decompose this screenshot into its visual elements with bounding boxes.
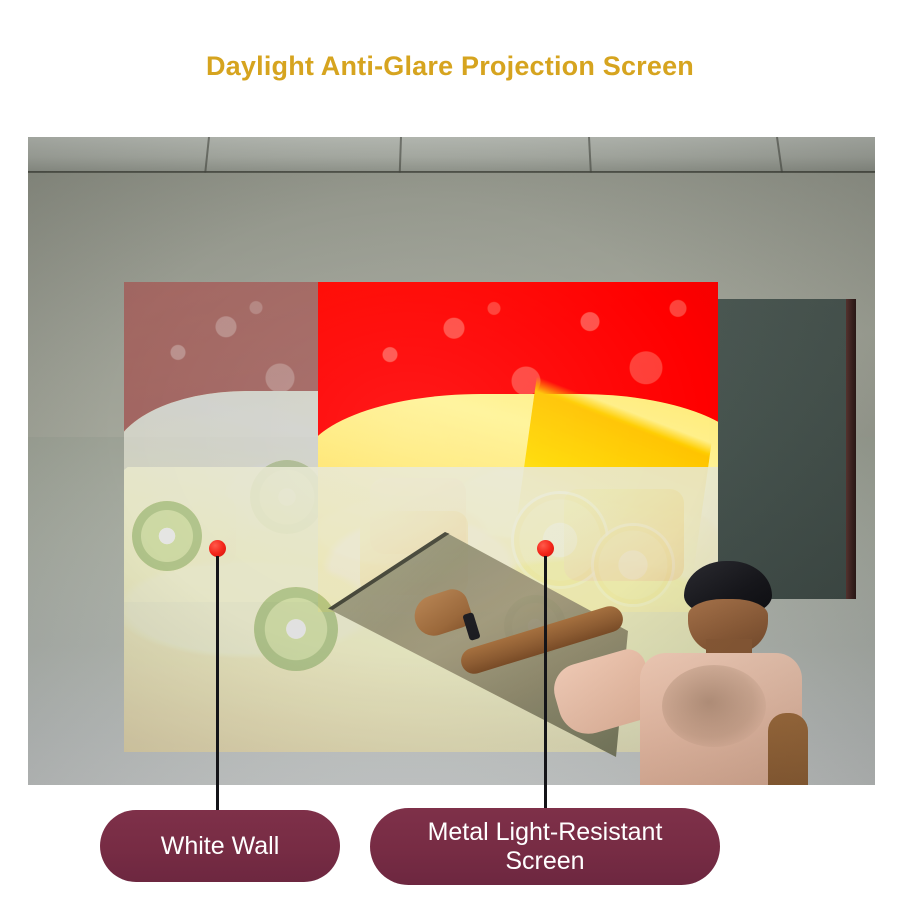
ceiling-seam bbox=[399, 137, 402, 173]
callout-label-metal-screen[interactable]: Metal Light-Resistant Screen bbox=[370, 808, 720, 885]
ceiling-seam bbox=[776, 137, 783, 173]
callout-dot-metal-screen bbox=[537, 540, 554, 557]
ceiling bbox=[28, 137, 875, 173]
ceiling-seam bbox=[588, 137, 592, 173]
projection-kiwi-slice bbox=[254, 587, 338, 671]
callout-leader-line-metal-screen bbox=[544, 556, 547, 808]
projection-kiwi-slice bbox=[132, 501, 202, 571]
callout-label-metal-screen-line2: Screen bbox=[505, 847, 584, 875]
callout-label-white-wall[interactable]: White Wall bbox=[100, 810, 340, 882]
callout-label-metal-screen-text: Metal Light-Resistant Screen bbox=[428, 818, 663, 876]
callout-leader-line-white-wall bbox=[216, 556, 219, 818]
person-lifting-screen bbox=[610, 561, 845, 785]
callout-dot-white-wall bbox=[209, 540, 226, 557]
callout-label-white-wall-text: White Wall bbox=[161, 832, 280, 861]
person-right-arm bbox=[768, 713, 808, 785]
page-title: Daylight Anti-Glare Projection Screen bbox=[206, 51, 694, 82]
callout-label-metal-screen-line1: Metal Light-Resistant bbox=[428, 818, 663, 846]
title-bar: Daylight Anti-Glare Projection Screen bbox=[0, 0, 900, 132]
person-tshirt-sweat-patch bbox=[662, 665, 766, 747]
wall-trim bbox=[846, 299, 856, 599]
ceiling-seam bbox=[204, 137, 210, 173]
product-photo bbox=[28, 137, 875, 785]
